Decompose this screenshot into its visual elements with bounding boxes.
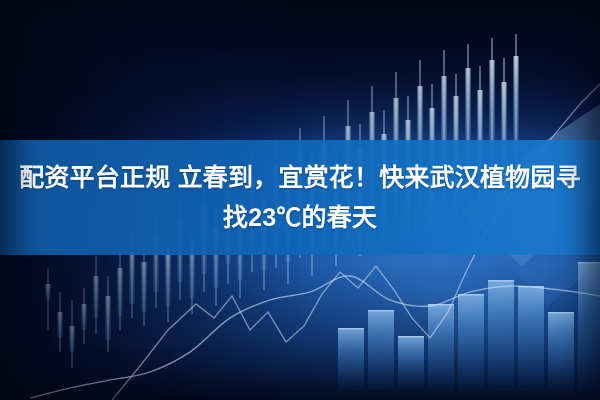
headline-container: 配资平台正规 立春到，宜赏花！快来武汉植物园寻 找23℃的春天	[0, 140, 600, 255]
banner-image: 配资平台正规 立春到，宜赏花！快来武汉植物园寻 找23℃的春天	[0, 0, 600, 400]
headline-line-1: 配资平台正规 立春到，宜赏花！快来武汉植物园寻	[0, 158, 600, 198]
headline-line-2: 找23℃的春天	[0, 198, 600, 238]
trend-line-smooth	[30, 276, 600, 398]
